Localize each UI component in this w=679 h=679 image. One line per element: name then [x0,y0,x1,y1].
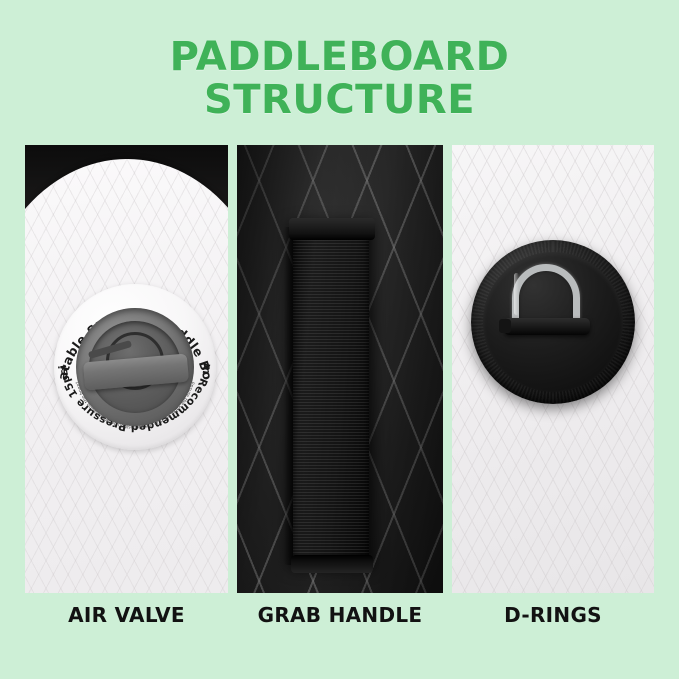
grab-handle-bottom-anchor [291,555,373,573]
feature-panel-row: Inflatable Stand Up Paddle Board Maximum… [25,145,654,593]
grab-handle-top-anchor [289,218,375,240]
panel-grab-handle [237,145,443,593]
page-title-line-2: STRUCTURE [0,79,679,122]
grab-handle-webbing [293,227,369,565]
d-ring-mount-bar [504,318,590,335]
d-ring-assembly [471,240,635,404]
panel-air-valve: Inflatable Stand Up Paddle Board Maximum… [25,145,228,593]
d-ring-mount-tab [499,319,511,333]
panel-caption-row: AIR VALVE GRAB HANDLE D-RINGS [25,603,654,637]
grab-handle-strap-assembly [293,227,369,565]
air-valve: Inflatable Stand Up Paddle Board Maximum… [54,284,216,450]
page-title-line-1: PADDLEBOARD [0,36,679,79]
caption-d-rings: D-RINGS [452,603,654,627]
caption-grab-handle: GRAB HANDLE [237,603,443,627]
panel-d-rings [452,145,654,593]
page-title: PADDLEBOARD STRUCTURE [0,36,679,122]
caption-air-valve: AIR VALVE [25,603,228,627]
paddleboard-structure-infographic: { "title": { "line1": "PADDLEBOARD", "li… [0,0,679,679]
